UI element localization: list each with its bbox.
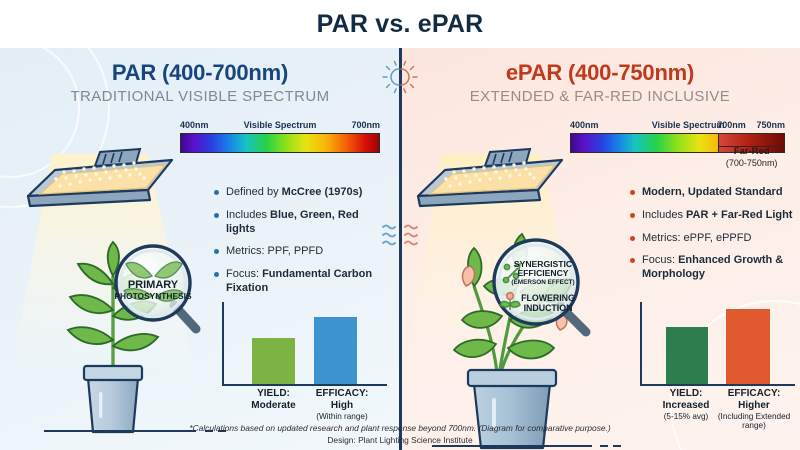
par-bullet-1: Defined by McCree (1970s) bbox=[214, 186, 390, 200]
bullet-lead: Metrics: PPF, PPFD bbox=[226, 245, 323, 257]
far-red-label: Far-Red bbox=[718, 147, 785, 158]
caption-header: EFFICACY: bbox=[302, 388, 382, 400]
epar-bar-chart: YIELD: Increased (5-15% avg) EFFICACY: H… bbox=[640, 302, 795, 402]
par-spectrum-end: 700nm bbox=[351, 120, 380, 130]
epar-spectrum-start: 400nm bbox=[570, 120, 599, 130]
epar-spectrum-mid: 700nm bbox=[717, 120, 746, 130]
caption-note: (5-15% avg) bbox=[648, 412, 724, 422]
bullet-lead: Includes bbox=[226, 209, 270, 221]
page-title: PAR vs. ePAR bbox=[317, 10, 484, 39]
par-efficacy-caption: EFFICACY: High (Within range) bbox=[302, 388, 382, 421]
bullet-lead: Metrics: ePPF, ePPFD bbox=[642, 232, 751, 244]
bullet-strong: PAR + Far-Red Light bbox=[686, 209, 792, 221]
par-yield-bar bbox=[252, 338, 295, 384]
par-bullet-list: Defined by McCree (1970s) Includes Blue,… bbox=[214, 186, 390, 305]
bullet-strong: McCree (1970s) bbox=[282, 186, 363, 198]
bullet-lead: Includes bbox=[642, 209, 686, 221]
epar-bullet-1: Modern, Updated Standard bbox=[630, 186, 795, 200]
magnifier-item1-line2: EFFICIENCY bbox=[517, 268, 568, 278]
magnifier-item2-line2: INDUCTION bbox=[524, 303, 573, 313]
epar-bullet-4: Focus: Enhanced Growth & Morphology bbox=[630, 254, 795, 282]
epar-yield-bar bbox=[666, 327, 708, 384]
caption-note: (Within range) bbox=[302, 412, 382, 422]
wave-lines-icon bbox=[403, 222, 419, 248]
par-bullet-3: Metrics: PPF, PPFD bbox=[214, 245, 390, 259]
par-spectrum-start: 400nm bbox=[180, 120, 209, 130]
split-sun-icon bbox=[381, 60, 419, 94]
bullet-strong: Modern, Updated Standard bbox=[642, 186, 783, 198]
caption-value: Higher bbox=[714, 400, 794, 412]
par-yield-caption: YIELD: Moderate bbox=[236, 388, 311, 412]
epar-efficacy-bar bbox=[726, 309, 770, 384]
epar-spectrum-label: Visible Spectrum bbox=[652, 120, 725, 130]
epar-yield-caption: YIELD: Increased (5-15% avg) bbox=[648, 388, 724, 421]
par-bullet-4: Focus: Fundamental Carbon Fixation bbox=[214, 268, 390, 296]
epar-spectrum-labels: 400nm Visible Spectrum 700nm 750nm bbox=[570, 120, 785, 133]
par-bar-chart: YIELD: Moderate EFFICACY: High (Within r… bbox=[222, 302, 387, 402]
caption-header: YIELD: bbox=[236, 388, 311, 400]
grow-light-fixture-icon bbox=[28, 149, 172, 206]
epar-spectrum-end: 750nm bbox=[756, 120, 785, 130]
par-spectrum-labels: 400nm Visible Spectrum 700nm bbox=[180, 120, 380, 133]
bullet-lead: Defined by bbox=[226, 186, 282, 198]
epar-spectrum: 400nm Visible Spectrum 700nm 750nm Far-R… bbox=[570, 120, 785, 153]
caption-header: EFFICACY: bbox=[714, 388, 794, 400]
caption-header: YIELD: bbox=[648, 388, 724, 400]
chart-y-axis bbox=[222, 302, 224, 386]
infographic-root: PAR vs. ePAR PAR (400-700nm) TRADITIONAL… bbox=[0, 0, 800, 450]
epar-bullet-list: Modern, Updated Standard Includes PAR + … bbox=[630, 186, 795, 291]
par-efficacy-bar bbox=[314, 317, 357, 384]
epar-bullet-3: Metrics: ePPF, ePPFD bbox=[630, 232, 795, 246]
footer: *Calculations based on updated research … bbox=[0, 422, 800, 446]
bullet-lead: Focus: bbox=[642, 254, 678, 266]
par-spectrum-label: Visible Spectrum bbox=[244, 120, 317, 130]
far-red-range: (700-750nm) bbox=[718, 158, 785, 168]
chart-y-axis bbox=[640, 302, 642, 386]
caption-value: High bbox=[302, 400, 382, 412]
caption-value: Increased bbox=[648, 400, 724, 412]
epar-bullet-2: Includes PAR + Far-Red Light bbox=[630, 209, 795, 223]
par-spectrum: 400nm Visible Spectrum 700nm bbox=[180, 120, 380, 153]
magnifier-line1: PRIMARY bbox=[128, 279, 179, 291]
footer-credit: Design: Plant Lighting Science Institute bbox=[0, 434, 800, 446]
chart-x-axis bbox=[640, 384, 795, 386]
far-red-caption: Far-Red (700-750nm) bbox=[718, 147, 785, 168]
chart-x-axis bbox=[222, 384, 387, 386]
header: PAR vs. ePAR bbox=[0, 0, 800, 48]
magnifier-item2-line1: FLOWERING bbox=[521, 293, 575, 303]
wave-lines-icon bbox=[381, 222, 397, 248]
caption-value: Moderate bbox=[236, 400, 311, 412]
par-spectrum-bar bbox=[180, 133, 380, 153]
panel-divider bbox=[399, 48, 402, 450]
magnifier-line2: PHOTOSYNTHESIS bbox=[114, 291, 192, 301]
magnifier-item1-line3: (EMERSON EFFECT) bbox=[511, 279, 574, 286]
footer-disclaimer: *Calculations based on updated research … bbox=[0, 422, 800, 434]
bullet-lead: Focus: bbox=[226, 268, 262, 280]
par-bullet-2: Includes Blue, Green, Red lights bbox=[214, 209, 390, 237]
